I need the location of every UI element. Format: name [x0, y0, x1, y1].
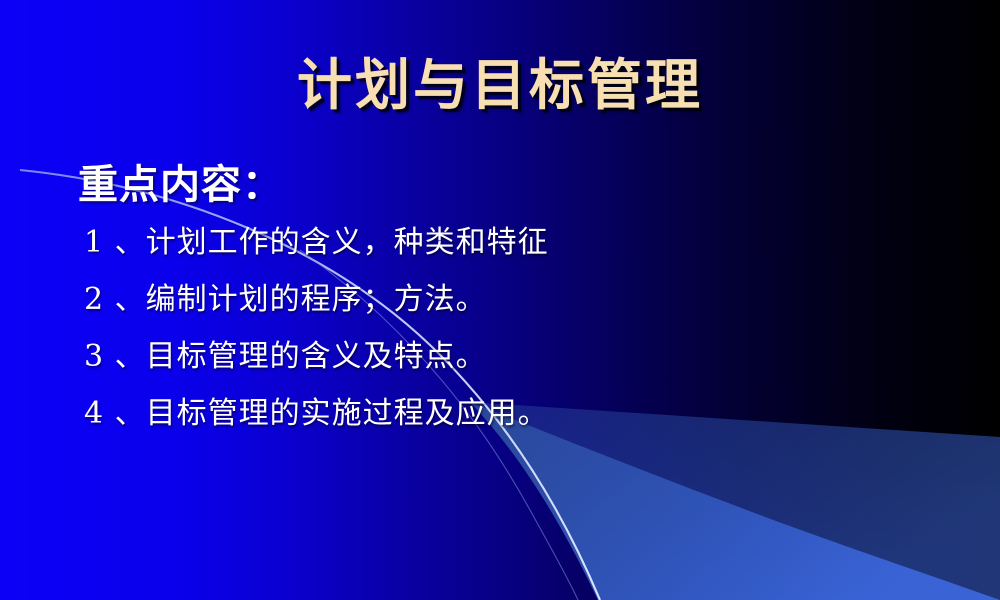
- section-heading: 重点内容：: [78, 160, 938, 210]
- swoosh-wedge-main: [470, 402, 1000, 600]
- list-item: 2 、编制计划的程序；方法。: [84, 285, 938, 315]
- slide-body-area: 重点内容： 1 、计划工作的含义，种类和特征 2 、编制计划的程序；方法。 3 …: [78, 160, 938, 429]
- page-title: 计划与目标管理: [297, 53, 703, 118]
- list-item: 1 、计划工作的含义，种类和特征: [84, 228, 938, 258]
- list-item: 4 、目标管理的实施过程及应用。: [84, 399, 938, 429]
- slide-title-area: 计划与目标管理: [0, 16, 1000, 155]
- list-item: 3 、目标管理的含义及特点。: [84, 342, 938, 372]
- presentation-slide: 计划与目标管理 重点内容： 1 、计划工作的含义，种类和特征 2 、编制计划的程…: [0, 0, 1000, 600]
- swoosh-wedge-upper: [470, 402, 1000, 600]
- key-points-list: 1 、计划工作的含义，种类和特征 2 、编制计划的程序；方法。 3 、目标管理的…: [78, 228, 938, 429]
